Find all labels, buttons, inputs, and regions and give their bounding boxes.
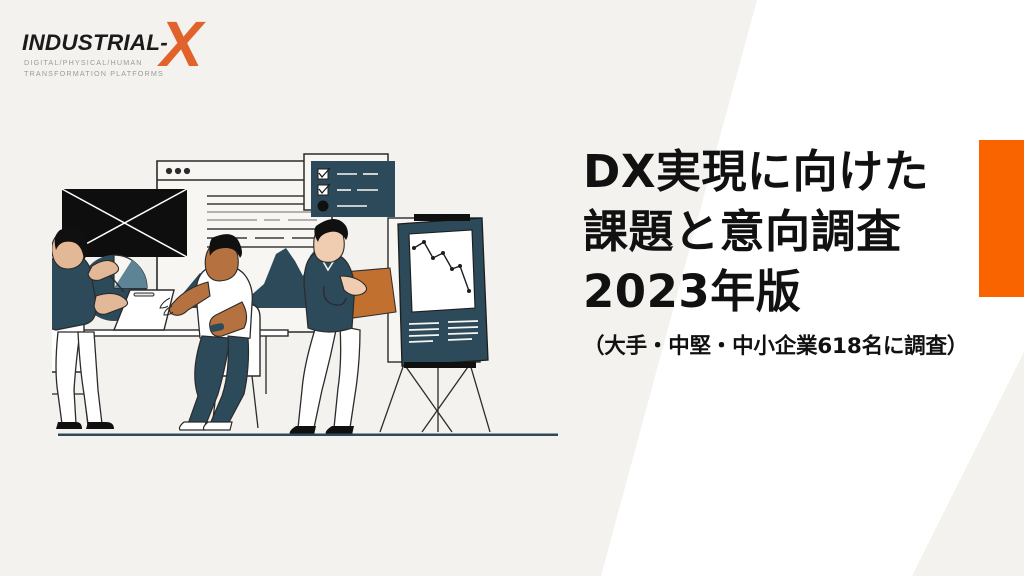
checklist-board bbox=[304, 154, 395, 217]
logo[interactable]: INDUSTRIAL- X DIGITAL/PHYSICAL/HUMAN TRA… bbox=[22, 24, 232, 94]
logo-tagline-line-1: DIGITAL/PHYSICAL/HUMAN bbox=[24, 57, 164, 68]
title-subtitle: （大手・中堅・中小企業618名に調査） bbox=[583, 329, 1003, 360]
logo-wordmark: INDUSTRIAL- bbox=[22, 30, 168, 56]
logo-tagline: DIGITAL/PHYSICAL/HUMAN TRANSFORMATION PL… bbox=[24, 57, 164, 79]
logo-tagline-line-2: TRANSFORMATION PLATFORMS bbox=[24, 68, 164, 79]
window-dots bbox=[166, 168, 190, 174]
slide-canvas: INDUSTRIAL- X DIGITAL/PHYSICAL/HUMAN TRA… bbox=[0, 0, 1024, 576]
logo-x-icon: X bbox=[160, 12, 203, 76]
title-line-2: 課題と意向調査 bbox=[583, 202, 1003, 262]
hero-illustration bbox=[52, 136, 562, 436]
flipchart-easel bbox=[380, 214, 490, 432]
title-line-3: 2023年版 bbox=[583, 262, 1003, 322]
title-line-1: DX実現に向けた bbox=[583, 142, 1003, 202]
title-block: DX実現に向けた 課題と意向調査 2023年版 （大手・中堅・中小企業618名に… bbox=[583, 142, 1003, 360]
